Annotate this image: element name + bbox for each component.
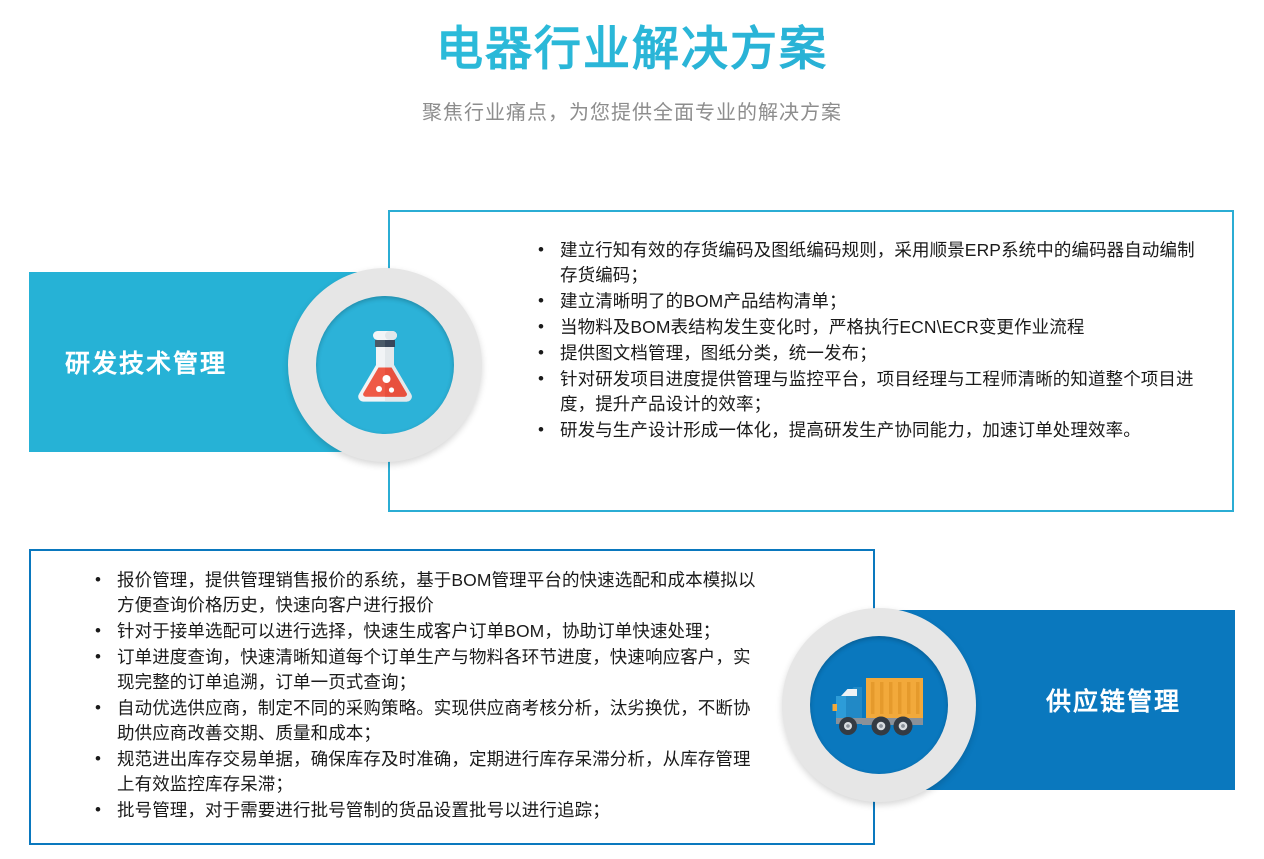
list-item: 自动优选供应商，制定不同的采购策略。实现供应商考核分析，汰劣换优，不断协助供应商…	[87, 696, 757, 746]
page-subtitle: 聚焦行业痛点，为您提供全面专业的解决方案	[0, 76, 1264, 125]
rd-label-text: 研发技术管理	[65, 344, 227, 380]
rd-content-box: 建立行知有效的存货编码及图纸编码规则，采用顺景ERP系统中的编码器自动编制存货编…	[388, 210, 1234, 512]
sc-badge-inner	[810, 636, 948, 774]
list-item: 针对于接单选配可以进行选择，快速生成客户订单BOM，协助订单快速处理；	[87, 619, 757, 644]
sc-label-text: 供应链管理	[1046, 682, 1181, 718]
list-item: 研发与生产设计形成一体化，提高研发生产协同能力，加速订单处理效率。	[530, 418, 1200, 443]
list-item: 针对研发项目进度提供管理与监控平台，项目经理与工程师清晰的知道整个项目进度，提升…	[530, 367, 1200, 417]
rd-badge	[288, 268, 482, 462]
rd-badge-inner	[316, 296, 454, 434]
rd-bullet-list: 建立行知有效的存货编码及图纸编码规则，采用顺景ERP系统中的编码器自动编制存货编…	[530, 238, 1200, 444]
page-header: 电器行业解决方案 聚焦行业痛点，为您提供全面专业的解决方案	[0, 0, 1264, 125]
sc-content-box: 报价管理，提供管理销售报价的系统，基于BOM管理平台的快速选配和成本模拟以方便查…	[29, 549, 875, 845]
page-title: 电器行业解决方案	[0, 0, 1264, 76]
list-item: 当物料及BOM表结构发生变化时，严格执行ECN\ECR变更作业流程	[530, 315, 1200, 340]
list-item: 建立行知有效的存货编码及图纸编码规则，采用顺景ERP系统中的编码器自动编制存货编…	[530, 238, 1200, 288]
list-item: 提供图文档管理，图纸分类，统一发布；	[530, 341, 1200, 366]
list-item: 规范进出库存交易单据，确保库存及时准确，定期进行库存呆滞分析，从库存管理上有效监…	[87, 747, 757, 797]
list-item: 批号管理，对于需要进行批号管制的货品设置批号以进行追踪；	[87, 798, 757, 823]
list-item: 建立清晰明了的BOM产品结构清单；	[530, 289, 1200, 314]
sc-bullet-list: 报价管理，提供管理销售报价的系统，基于BOM管理平台的快速选配和成本模拟以方便查…	[87, 568, 757, 824]
sc-badge	[782, 608, 976, 802]
truck-icon	[832, 674, 926, 736]
flask-icon	[349, 327, 421, 403]
list-item: 报价管理，提供管理销售报价的系统，基于BOM管理平台的快速选配和成本模拟以方便查…	[87, 568, 757, 618]
list-item: 订单进度查询，快速清晰知道每个订单生产与物料各环节进度，快速响应客户，实现完整的…	[87, 645, 757, 695]
